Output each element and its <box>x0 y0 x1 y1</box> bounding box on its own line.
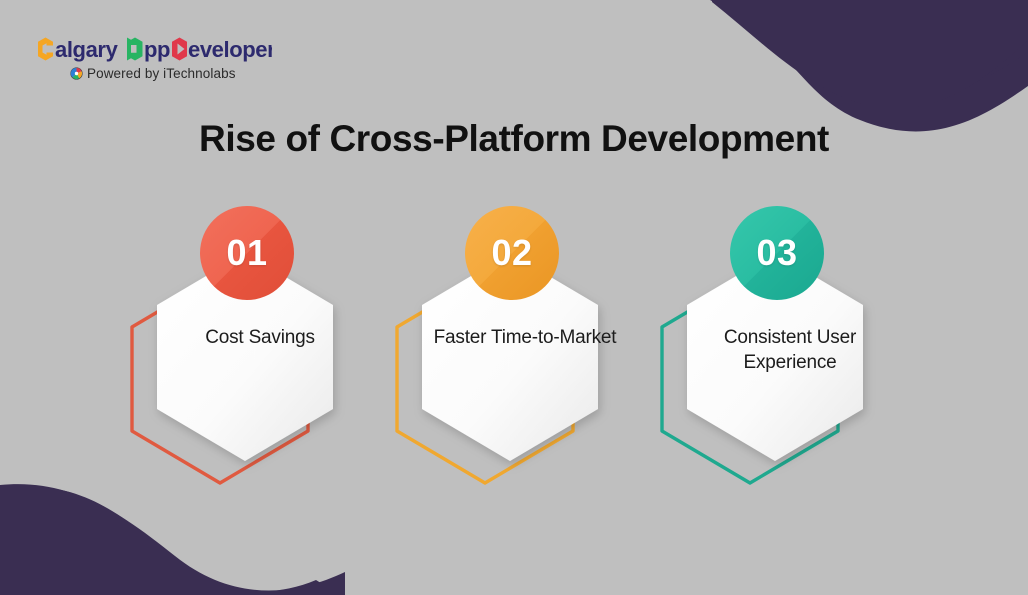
logo-tagline-text: Powered by iTechnolabs <box>87 66 236 81</box>
purple-wave-top-right-lower <box>712 0 1028 109</box>
card-number-badge: 03 <box>729 205 825 301</box>
logo-wordmark-graphic: algary pp evelopers <box>32 36 272 62</box>
benefit-card[interactable]: Faster Time-to-Market 02 <box>385 205 665 505</box>
brand-logo[interactable]: algary pp evelopers <box>32 36 332 92</box>
infographic-canvas: algary pp evelopers <box>0 0 1028 595</box>
logo-letter-d-hex-icon <box>172 38 187 61</box>
card-number-text: 01 <box>199 205 295 301</box>
svg-text:algary: algary <box>55 37 119 62</box>
card-label: Consistent User Experience <box>675 325 905 375</box>
logo-tagline-row: Powered by iTechnolabs <box>70 66 332 81</box>
purple-wave-top-right-shape <box>712 0 1028 98</box>
purple-wave-top-right <box>710 0 1028 131</box>
benefit-card-list: Cost Savings 01 <box>0 205 1028 505</box>
card-number-badge: 01 <box>199 205 295 301</box>
logo-letter-a-hex-icon <box>127 38 143 61</box>
benefit-card[interactable]: Cost Savings 01 <box>120 205 400 505</box>
logo-letter-c-hex-icon <box>38 38 53 61</box>
card-number-badge: 02 <box>464 205 560 301</box>
logo-wordmark: algary pp evelopers <box>32 36 332 62</box>
svg-text:evelopers: evelopers <box>188 37 272 62</box>
svg-text:pp: pp <box>144 37 170 62</box>
card-label: Faster Time-to-Market <box>410 325 640 350</box>
itechnolabs-circle-icon <box>70 67 83 80</box>
page-title: Rise of Cross-Platform Development <box>0 118 1028 160</box>
benefit-card[interactable]: Consistent User Experience 03 <box>650 205 930 505</box>
card-number-text: 03 <box>729 205 825 301</box>
card-label: Cost Savings <box>145 325 375 350</box>
card-number-text: 02 <box>464 205 560 301</box>
